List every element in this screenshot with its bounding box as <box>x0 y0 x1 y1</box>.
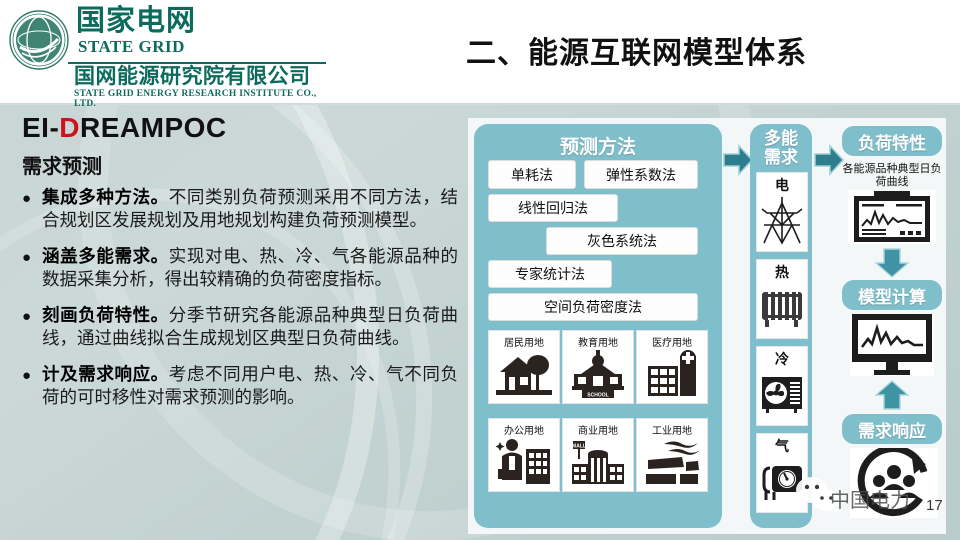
institute-name-en: STATE GRID ENERGY RESEARCH INSTITUTE CO.… <box>74 89 338 109</box>
hospital-icon <box>642 348 702 400</box>
arrow-right-icon <box>723 144 753 176</box>
air-conditioner-icon <box>760 367 804 421</box>
landuse-cell-education[interactable]: 教育用地 SCHOOL <box>562 330 634 404</box>
state-grid-emblem-icon <box>8 9 70 71</box>
methods-panel: 预测方法 单耗法 弹性系数法 线性回归法 灰色系统法 专家统计法 空间负荷密度法… <box>474 124 722 528</box>
demand-response-title: 需求响应 <box>842 414 942 444</box>
landuse-cell-commercial[interactable]: 商业用地 MALL <box>562 418 634 492</box>
energy-cell-electricity[interactable]: 电 <box>756 172 808 252</box>
process-diagram: 预测方法 单耗法 弹性系数法 线性回归法 灰色系统法 专家统计法 空间负荷密度法… <box>468 118 946 534</box>
bullet-lead: 集成多种方法。 <box>42 188 169 208</box>
watermark-text: 中国电力 <box>830 484 910 513</box>
org-name-en: STATE GRID <box>78 37 185 57</box>
bullet-lead: 计及需求响应。 <box>42 365 169 385</box>
load-characteristics-title: 负荷特性 <box>842 126 942 156</box>
landuse-cell-residential[interactable]: 居民用地 <box>488 330 560 404</box>
radiator-icon <box>760 280 804 334</box>
bullet-dot-icon: ● <box>22 305 42 351</box>
method-box-3[interactable]: 灰色系统法 <box>546 227 698 255</box>
landuse-label: 商业用地 <box>563 422 633 437</box>
bullet-lead: 刻画负荷特性。 <box>42 306 169 326</box>
org-name-cn: 国家电网 <box>76 6 196 35</box>
landuse-cell-office[interactable]: 办公用地 <box>488 418 560 492</box>
energy-label: 冷 <box>757 349 807 369</box>
factory-icon <box>642 436 702 488</box>
list-item: ● 涵盖多能需求。实现对电、热、冷、气各能源品种的数据采集分析，得出较精确的负荷… <box>22 246 458 292</box>
energy-label: 气 <box>757 436 807 456</box>
office-worker-icon <box>494 436 554 488</box>
ei-rest: REAMPOC <box>80 112 227 143</box>
section-subhead: 需求预测 <box>22 150 458 179</box>
mall-icon: MALL <box>568 436 628 488</box>
school-icon: SCHOOL <box>568 348 628 400</box>
landuse-label: 居民用地 <box>489 334 559 349</box>
method-box-1[interactable]: 弹性系数法 <box>584 160 698 189</box>
landuse-cell-medical[interactable]: 医疗用地 <box>636 330 708 404</box>
bullet-text: 刻画负荷特性。分季节研究各能源品种典型日负荷曲线，通过曲线拟合生成规划区典型日负… <box>42 305 458 351</box>
bullet-text: 涵盖多能需求。实现对电、热、冷、气各能源品种的数据采集分析，得出较精确的负荷密度… <box>42 246 458 292</box>
load-curve-board-icon <box>848 190 936 244</box>
energy-label: 电 <box>757 175 807 195</box>
bullet-lead: 涵盖多能需求。 <box>42 247 169 267</box>
landuse-label: 工业用地 <box>637 422 707 437</box>
landuse-label: 医疗用地 <box>637 334 707 349</box>
logo-block: 国家电网 STATE GRID 国网能源研究院有限公司 STATE GRID E… <box>8 4 338 99</box>
ei-accent-letter: D <box>59 112 80 143</box>
landuse-label: 办公用地 <box>489 422 559 437</box>
page-title: 二、能源互联网模型体系 <box>466 28 807 72</box>
transmission-tower-icon <box>760 193 804 247</box>
energy-cell-cooling[interactable]: 冷 <box>756 346 808 426</box>
energy-cell-gas[interactable]: 气 <box>756 433 808 513</box>
monitor-curve-icon <box>850 314 934 376</box>
multi-energy-title: 多能 需求 <box>750 130 812 168</box>
arrow-up-icon <box>875 380 909 410</box>
multi-energy-title-line1: 多能 <box>750 130 812 149</box>
list-item: ● 集成多种方法。不同类别负荷预测采用不同方法，结合规划区发展规划及用地规划构建… <box>22 187 458 233</box>
svg-text:MALL: MALL <box>572 444 586 450</box>
ei-prefix: EI- <box>22 112 59 143</box>
house-tree-icon <box>494 348 554 400</box>
methods-title: 预测方法 <box>474 132 722 159</box>
multi-energy-panel: 多能 需求 电 <box>750 124 812 528</box>
energy-label: 热 <box>757 262 807 282</box>
arrow-down-icon <box>875 248 909 278</box>
bullet-dot-icon: ● <box>22 246 42 292</box>
bullet-text: 集成多种方法。不同类别负荷预测采用不同方法，结合规划区发展规划及用地规划构建负荷… <box>42 187 458 233</box>
load-characteristics-caption: 各能源品种典型日负荷曲线 <box>840 162 944 188</box>
slide: 国家电网 STATE GRID 国网能源研究院有限公司 STATE GRID E… <box>0 0 960 540</box>
bullet-text: 计及需求响应。考虑不同用户电、热、冷、气不同负荷的可时移性对需求预测的影响。 <box>42 364 458 410</box>
energy-cell-heat[interactable]: 热 <box>756 259 808 339</box>
left-content-column: EI-DREAMPOC 需求预测 ● 集成多种方法。不同类别负荷预测采用不同方法… <box>22 112 458 423</box>
bullet-dot-icon: ● <box>22 187 42 233</box>
landuse-label: 教育用地 <box>563 334 633 349</box>
slide-header: 国家电网 STATE GRID 国网能源研究院有限公司 STATE GRID E… <box>0 0 960 103</box>
method-box-5[interactable]: 空间负荷密度法 <box>488 293 698 321</box>
svg-text:SCHOOL: SCHOOL <box>587 393 608 399</box>
multi-energy-title-line2: 需求 <box>750 149 812 168</box>
method-box-2[interactable]: 线性回归法 <box>488 194 618 222</box>
page-number: 17 <box>926 497 943 514</box>
list-item: ● 计及需求响应。考虑不同用户电、热、冷、气不同负荷的可时移性对需求预测的影响。 <box>22 364 458 410</box>
landuse-cell-industrial[interactable]: 工业用地 <box>636 418 708 492</box>
institute-name-cn: 国网能源研究院有限公司 <box>74 66 311 87</box>
model-calculation-title: 模型计算 <box>842 280 942 310</box>
method-box-0[interactable]: 单耗法 <box>488 160 576 189</box>
ei-dreampoc-title: EI-DREAMPOC <box>22 112 458 144</box>
list-item: ● 刻画负荷特性。分季节研究各能源品种典型日负荷曲线，通过曲线拟合生成规划区典型… <box>22 305 458 351</box>
method-box-4[interactable]: 专家统计法 <box>488 260 612 288</box>
bullet-dot-icon: ● <box>22 364 42 410</box>
gas-meter-icon <box>760 454 804 508</box>
